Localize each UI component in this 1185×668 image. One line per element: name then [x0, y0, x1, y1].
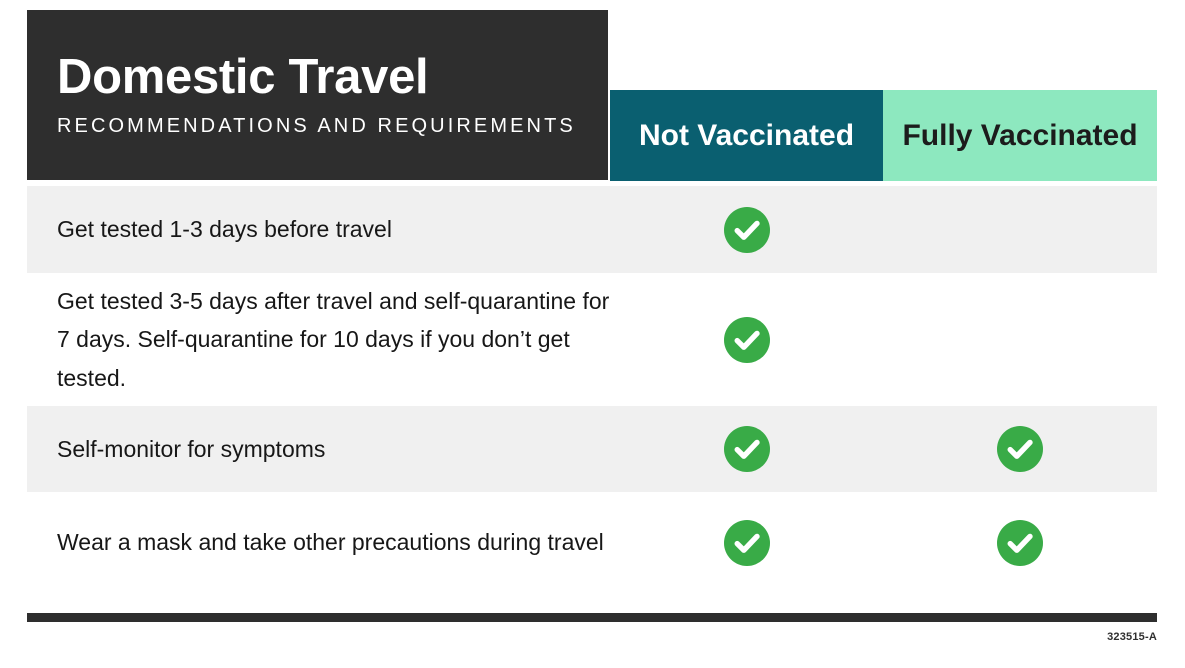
- table-row: Self-monitor for symptoms: [27, 406, 1157, 492]
- column-header-fully-vaccinated-label: Fully Vaccinated: [902, 119, 1137, 153]
- column-header-not-vaccinated-label: Not Vaccinated: [639, 119, 854, 153]
- check-circle-icon: [724, 207, 770, 253]
- cell-not-vaccinated: [610, 426, 883, 472]
- domestic-travel-infographic: Domestic Travel RECOMMENDATIONS AND REQU…: [0, 0, 1185, 668]
- table-row: Get tested 1-3 days before travel: [27, 186, 1157, 273]
- page-title: Domestic Travel: [57, 52, 608, 103]
- cell-fully-vaccinated: [883, 317, 1156, 363]
- column-header-not-vaccinated: Not Vaccinated: [610, 90, 883, 181]
- column-header-fully-vaccinated: Fully Vaccinated: [883, 90, 1157, 181]
- footer-publication-code: 323515-A: [1107, 631, 1157, 643]
- title-block: Domestic Travel RECOMMENDATIONS AND REQU…: [27, 10, 608, 180]
- row-label: Self-monitor for symptoms: [27, 430, 610, 469]
- check-circle-icon: [724, 520, 770, 566]
- row-label: Wear a mask and take other precautions d…: [27, 523, 610, 562]
- row-label: Get tested 3-5 days after travel and sel…: [27, 282, 610, 398]
- row-label: Get tested 1-3 days before travel: [27, 210, 610, 249]
- check-circle-icon: [997, 520, 1043, 566]
- table-row: Wear a mask and take other precautions d…: [27, 492, 1157, 593]
- footer-divider-bar: [27, 613, 1157, 622]
- cell-not-vaccinated: [610, 207, 883, 253]
- cell-fully-vaccinated: [883, 207, 1156, 253]
- table-row: Get tested 3-5 days after travel and sel…: [27, 273, 1157, 406]
- check-circle-icon: [724, 317, 770, 363]
- page-subtitle: RECOMMENDATIONS AND REQUIREMENTS: [57, 115, 608, 138]
- recommendations-table: Get tested 1-3 days before travelGet tes…: [27, 186, 1157, 593]
- header-band: Domestic Travel RECOMMENDATIONS AND REQU…: [0, 0, 1185, 186]
- cell-not-vaccinated: [610, 520, 883, 566]
- cell-fully-vaccinated: [883, 520, 1156, 566]
- check-circle-icon: [724, 426, 770, 472]
- cell-fully-vaccinated: [883, 426, 1156, 472]
- cell-not-vaccinated: [610, 317, 883, 363]
- check-circle-icon: [997, 426, 1043, 472]
